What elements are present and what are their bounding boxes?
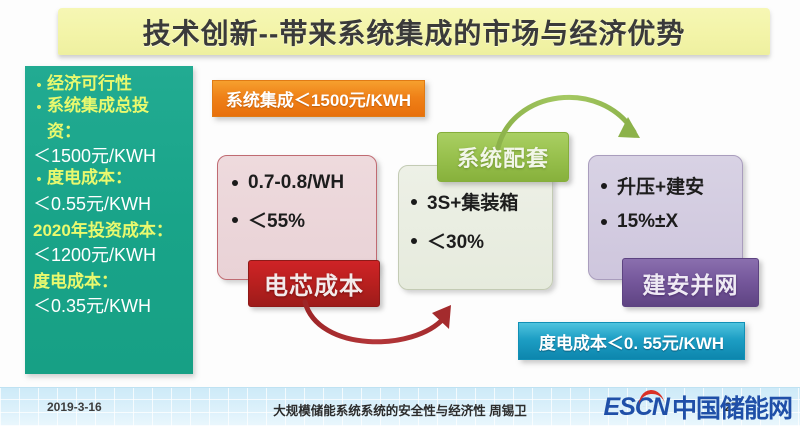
system-package-tab: 系统配套 (437, 132, 569, 182)
sidebar-value: ＜0.55元/KWH (31, 190, 187, 216)
sidebar-item-label: 度电成本： (31, 267, 187, 292)
card-bullet-label: 升压+建安 (617, 172, 704, 199)
system-package-card: 3S+集装箱 ＜30% (398, 165, 553, 290)
slide-title-bar: 技术创新--带来系统集成的市场与经济优势 (58, 8, 770, 55)
list-item: ＜55% (228, 206, 376, 233)
card-bullet-label: 15%±X (617, 211, 678, 233)
list-item: • 度电成本： (31, 168, 187, 188)
sidebar-value: ＜1200元/KWH (31, 241, 187, 267)
levelized-cost-banner: 度电成本＜0. 55元/KWH (518, 322, 745, 360)
list-item: 15%±X (597, 211, 742, 233)
list-item: • 系统集成总投 (31, 96, 187, 116)
sidebar-item-label: 2020年投资成本： (31, 216, 187, 241)
logo-swoosh-icon (637, 389, 665, 408)
grid-connection-tab: 建安并网 (622, 258, 759, 307)
teal-banner-label: 度电成本＜0. 55元/KWH (539, 329, 724, 354)
card-bullet-label: 3S+集装箱 (427, 188, 518, 215)
battery-cost-tab-label: 电芯成本 (264, 266, 364, 301)
list-item: ＜30% (407, 227, 552, 254)
sidebar-item-label: 经济可行性 (47, 74, 132, 94)
battery-cost-tab: 电芯成本 (248, 260, 380, 307)
sidebar-value: ＜0.35元/KWH (31, 292, 187, 318)
red-curved-arrow (305, 302, 451, 342)
list-item: 3S+集装箱 (407, 188, 552, 215)
system-package-tab-label: 系统配套 (457, 141, 549, 173)
escn-logo: ESCN 中国储能网 (604, 392, 792, 422)
sidebar-item-label: 系统集成总投 (47, 96, 149, 116)
card-bullet-label: 0.7-0.8/WH (248, 172, 344, 194)
card-bullet-label: ＜30% (427, 227, 484, 254)
bullet-dot-icon (411, 238, 417, 244)
bullet-dot-icon (232, 217, 238, 223)
card-bullet-label: ＜55% (248, 206, 305, 233)
slide-footer: 2019-3-16 大规模储能系统系统的安全性与经济性 周锡卫 27 ESCN … (0, 387, 800, 426)
bullet-dot-icon (601, 219, 607, 225)
list-item: 升压+建安 (597, 172, 742, 199)
bullet-icon: • (31, 96, 47, 115)
orange-banner-label: 系统集成＜1500元/KWH (226, 86, 411, 111)
bullet-icon: • (31, 74, 47, 93)
system-integration-cost-banner: 系统集成＜1500元/KWH (212, 80, 425, 117)
bullet-dot-icon (232, 180, 238, 186)
escn-logo-chinese: 中国储能网 (672, 389, 792, 425)
sidebar-item-label: 度电成本： (47, 168, 132, 188)
bullet-dot-icon (411, 199, 417, 205)
list-item: • 经济可行性 (31, 74, 187, 94)
economics-sidebar-panel: • 经济可行性 • 系统集成总投 资： ＜1500元/KWH • 度电成本： ＜… (25, 66, 193, 374)
sidebar-item-label: 资： (31, 117, 187, 142)
list-item: 0.7-0.8/WH (228, 172, 376, 194)
bullet-dot-icon (601, 183, 607, 189)
bullet-icon: • (31, 168, 47, 187)
sidebar-value: ＜1500元/KWH (31, 142, 187, 168)
slide-canvas: 技术创新--带来系统集成的市场与经济优势 • 经济可行性 • 系统集成总投 资：… (0, 0, 800, 426)
page-title: 技术创新--带来系统集成的市场与经济优势 (143, 12, 686, 52)
grid-connection-tab-label: 建安并网 (643, 266, 739, 300)
